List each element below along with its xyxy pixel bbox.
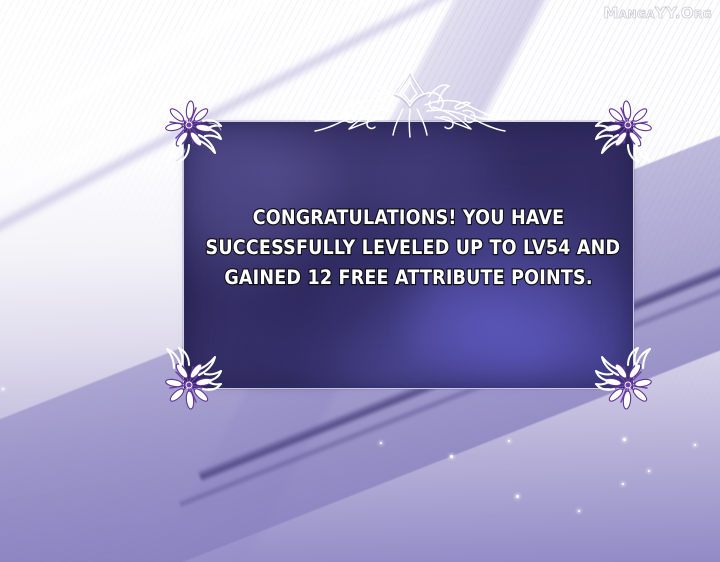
sparkle-dot [648,470,650,472]
sparkle-dot [2,388,4,390]
sparkle-dot [380,442,382,444]
sparkle-dot [622,483,624,485]
message-line-2: successfully leveled up to Lv54 and [206,233,612,263]
sparkle-dot [508,440,510,442]
sparkle-dot [694,444,696,446]
sparkle-dot [623,438,626,441]
message-line-1: Congratulations! You have [206,203,612,233]
sparkle-dot [450,455,453,458]
level-up-message: Congratulations! You have successfully l… [206,203,612,293]
site-watermark: MangaYY.Org [603,4,712,22]
sparkle-dot [578,510,580,512]
message-line-3: gained 12 free attribute points. [206,263,612,293]
sparkle-dot [516,495,519,498]
level-up-notification-scene: MangaYY.Org Congratulations! You have su… [0,0,720,562]
message-panel: Congratulations! You have successfully l… [183,121,634,389]
